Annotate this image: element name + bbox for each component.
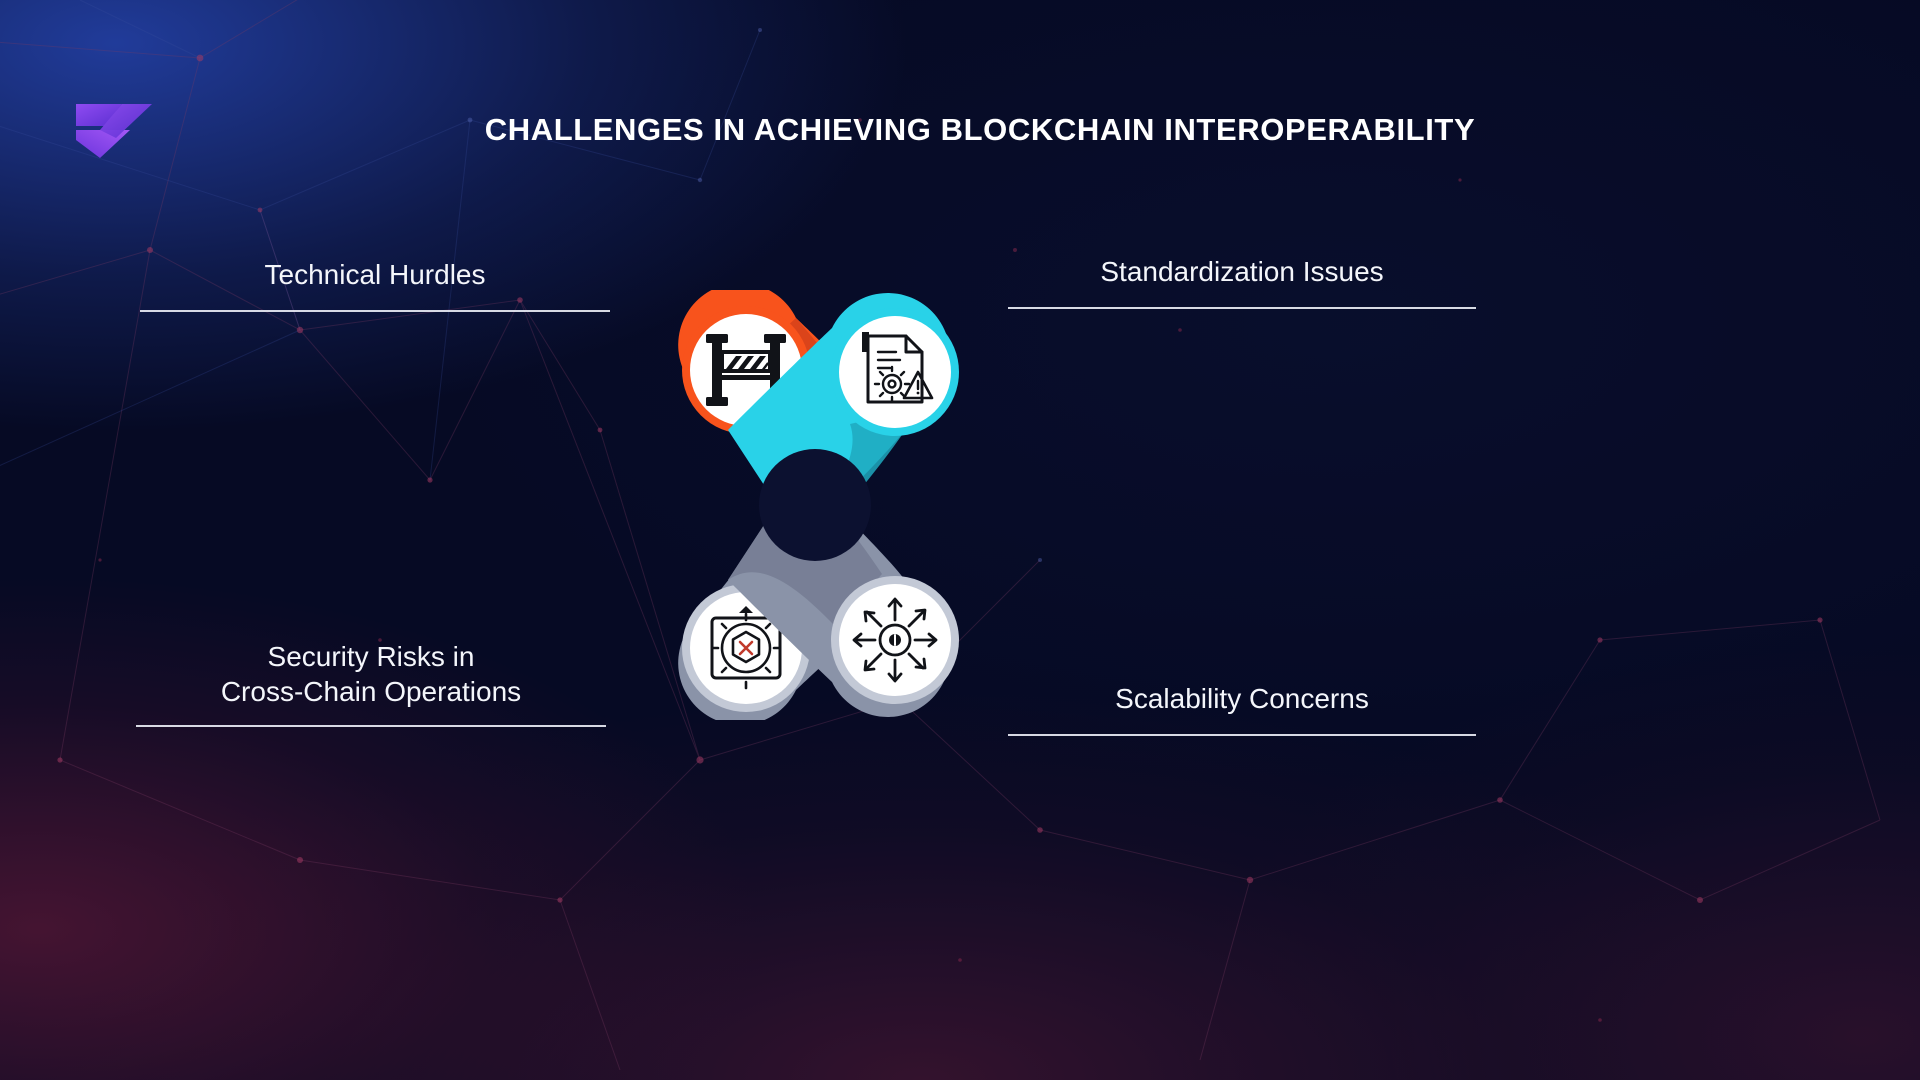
quadrant-label-technical-hurdles: Technical Hurdles xyxy=(140,258,610,312)
slide-canvas: CHALLENGES IN ACHIEVING BLOCKCHAIN INTER… xyxy=(0,0,1920,1080)
pinwheel-diagram xyxy=(600,290,1040,720)
quadrant-label-rule xyxy=(140,310,610,312)
icon-badge xyxy=(839,316,951,428)
quadrant-label-text: Security Risks in Cross-Chain Operations xyxy=(136,640,606,709)
quadrant-label-scalability-concerns: Scalability Concerns xyxy=(1008,682,1476,736)
quadrant-label-security-risks: Security Risks in Cross-Chain Operations xyxy=(136,640,606,727)
quadrant-label-text: Standardization Issues xyxy=(1008,255,1476,290)
pinwheel-center-hub xyxy=(759,449,871,561)
quadrant-label-text: Scalability Concerns xyxy=(1008,682,1476,717)
quadrant-label-standardization-issues: Standardization Issues xyxy=(1008,255,1476,309)
page-title: CHALLENGES IN ACHIEVING BLOCKCHAIN INTER… xyxy=(0,112,1920,148)
quadrant-label-text: Technical Hurdles xyxy=(140,258,610,293)
quadrant-label-rule xyxy=(136,725,606,727)
quadrant-label-rule xyxy=(1008,307,1476,309)
scalability-arrows-icon xyxy=(854,599,936,681)
quadrant-label-rule xyxy=(1008,734,1476,736)
